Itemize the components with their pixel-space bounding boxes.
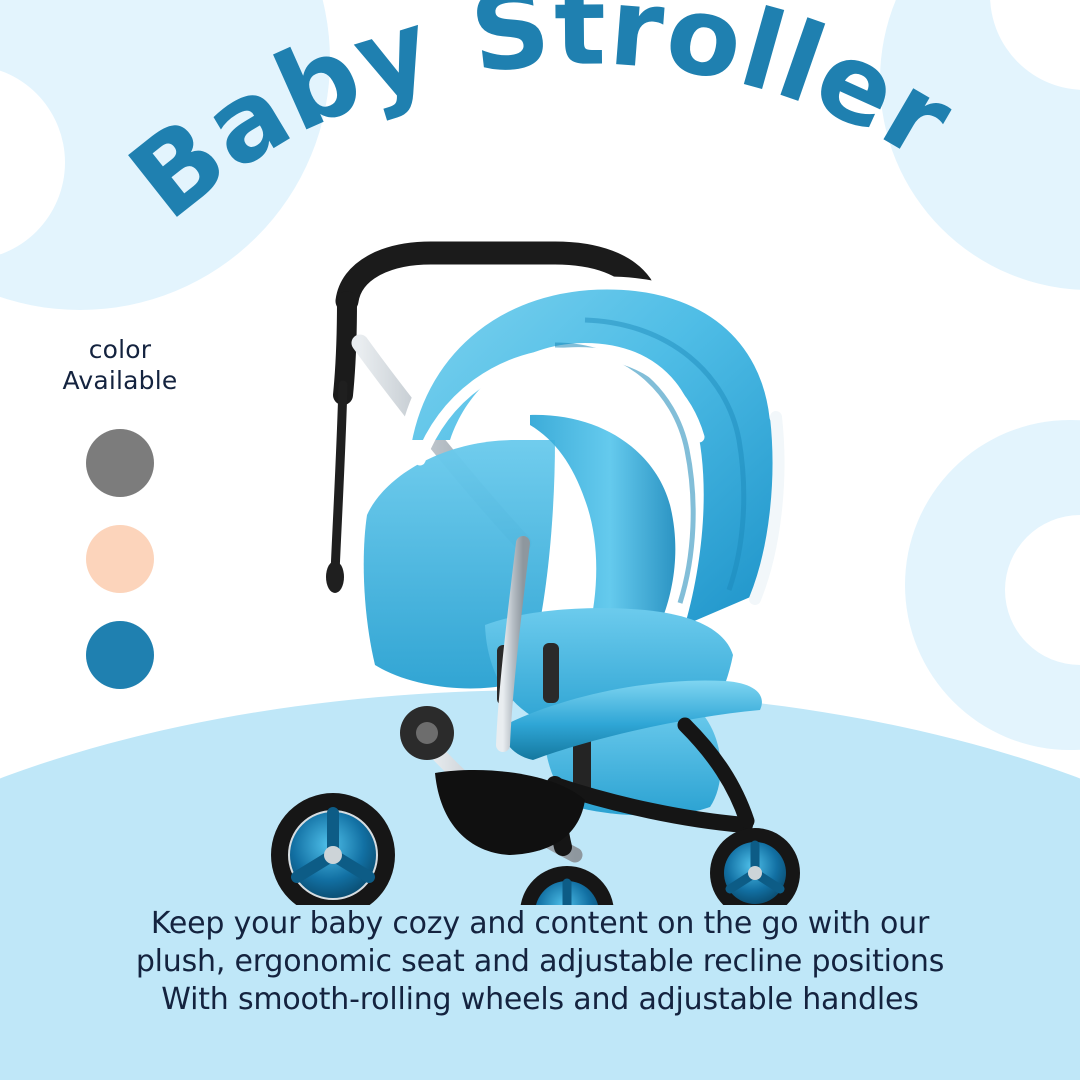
strap-end [326,561,344,593]
wheel-rear-right [710,828,800,905]
wheel-rear-large [271,793,395,905]
page-title-text: Baby Stroller [108,0,973,243]
harness-strap-right [543,643,559,703]
color-label-line2: Available [40,365,200,396]
ring-hole [1005,515,1080,665]
color-swatch-gray[interactable] [86,429,154,497]
description-line-3: With smooth-rolling wheels and adjustabl… [0,981,1080,1019]
description-line-2: plush, ergonomic seat and adjustable rec… [0,943,1080,981]
poster-canvas: Baby Stroller color Available [0,0,1080,1080]
description-line-1: Keep your baby cozy and content on the g… [0,905,1080,943]
color-swatch-list [40,429,200,689]
title-textpath: Baby Stroller [108,0,973,243]
color-available-panel: color Available [40,334,200,689]
color-swatch-peach[interactable] [86,525,154,593]
decorative-ring-right-middle [905,420,1080,750]
product-image-baby-stroller [255,225,845,905]
color-swatch-blue[interactable] [86,621,154,689]
page-title: Baby Stroller [0,28,1080,248]
stroller-strap [335,385,343,573]
wheel-front-caster [520,866,614,905]
product-description: Keep your baby cozy and content on the g… [0,905,1080,1019]
frame-hub-center [416,722,438,744]
color-label-line1: color [40,334,200,365]
